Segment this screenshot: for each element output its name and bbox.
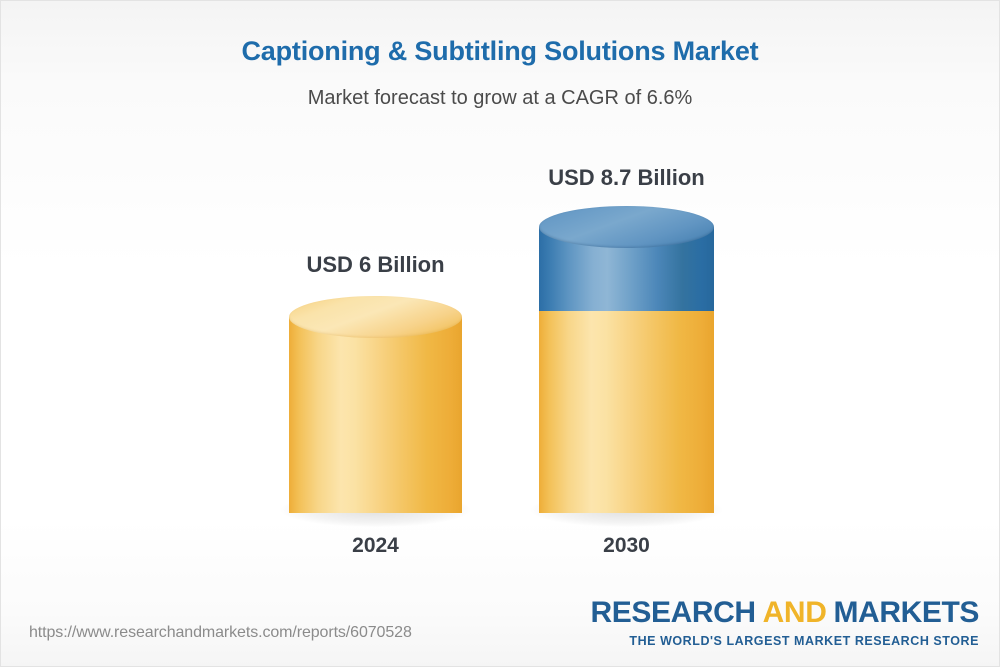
- category-label-2024: 2024: [289, 534, 462, 558]
- bar-group-2024: USD 6 Billion 2024: [289, 1, 462, 668]
- bar-value-label-2030: USD 8.7 Billion: [539, 165, 714, 191]
- chart-canvas: Captioning & Subtitling Solutions Market…: [0, 0, 1000, 667]
- logo-wordmark: RESEARCHANDMARKETS: [591, 598, 979, 628]
- cylinder-top-ellipse-2024: [289, 296, 462, 338]
- cylinder-top-ellipse-2030: [539, 206, 714, 248]
- cylinder-body-yellow-2024: [289, 317, 462, 513]
- logo-word-and: AND: [756, 596, 834, 629]
- bar-value-label-2024: USD 6 Billion: [289, 252, 462, 278]
- logo-word-markets: MARKETS: [833, 596, 979, 629]
- bar-segment-growth-2030: [539, 206, 714, 311]
- chart-plot-area: USD 6 Billion 2024 USD 8.7 Billion: [1, 1, 1000, 668]
- brand-logo[interactable]: RESEARCHANDMARKETS THE WORLD'S LARGEST M…: [591, 598, 979, 648]
- cylinder-2024[interactable]: [289, 296, 462, 513]
- cylinder-2030[interactable]: [539, 206, 714, 513]
- category-label-2030: 2030: [539, 534, 714, 558]
- logo-word-research: RESEARCH: [591, 596, 756, 629]
- cylinder-body-yellow-2030: [539, 311, 714, 513]
- bar-segment-base-2024: [289, 296, 462, 513]
- logo-tagline: THE WORLD'S LARGEST MARKET RESEARCH STOR…: [591, 628, 979, 648]
- bar-segment-base-2030: [539, 311, 714, 513]
- source-url[interactable]: https://www.researchandmarkets.com/repor…: [29, 624, 412, 642]
- bar-group-2030: USD 8.7 Billion 2030: [539, 1, 714, 668]
